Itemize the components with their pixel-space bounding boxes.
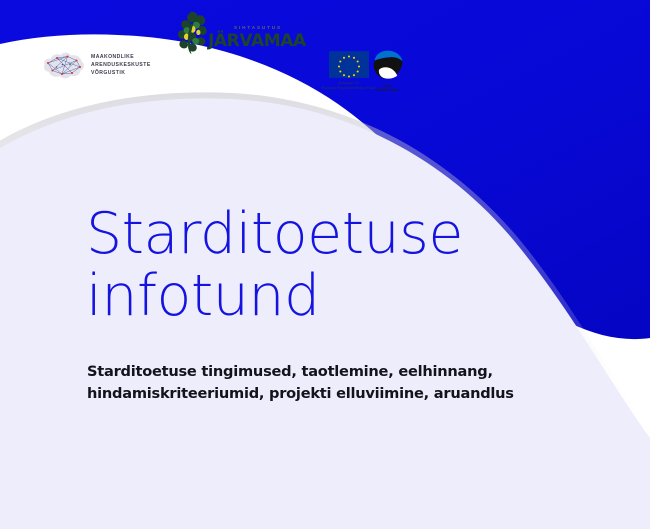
eesti-tuleviku-heaks-logo: Eesti tuleviku heaks xyxy=(370,49,404,93)
mak-logo-line-1: MAAKONDLIKE xyxy=(91,53,151,61)
presentation-slide: MAAKONDLIKE ARENDUSKESKUSTE VÕRGUSTIK xyxy=(0,0,650,529)
european-union-logo: Euroopa Liit Euroopa Regionaalarengu Fon… xyxy=(322,51,375,91)
estonia-flag-shape-icon xyxy=(370,49,404,82)
network-map-icon xyxy=(40,48,86,82)
eu-caption-line-2: Euroopa Regionaalarengu Fond xyxy=(322,86,375,91)
eu-logo-caption: Euroopa Liit Euroopa Regionaalarengu Fon… xyxy=(322,81,375,92)
eu-flag-icon xyxy=(329,51,369,78)
jarvamaa-logo-wordmark: JÄRVAMAA xyxy=(208,31,306,51)
jarvamaa-logo-sihtasutus: SIHTASUTUS xyxy=(234,25,306,30)
maakondlike-arenduskeskuste-vorgustik-logo: MAAKONDLIKE ARENDUSKESKUSTE VÕRGUSTIK xyxy=(40,48,151,82)
mak-logo-text: MAAKONDLIKE ARENDUSKESKUSTE VÕRGUSTIK xyxy=(91,53,151,78)
page-subtitle: Starditoetuse tingimused, taotlemine, ee… xyxy=(87,361,557,405)
partner-logo-strip: MAAKONDLIKE ARENDUSKESKUSTE VÕRGUSTIK xyxy=(0,0,650,100)
estonia-caption-line-2: tuleviku heaks xyxy=(376,88,399,93)
page-title: Starditoetuse infotund xyxy=(86,203,566,327)
sihtasutus-jarvamaa-logo: SIHTASUTUS JÄRVAMAA xyxy=(172,10,306,56)
jarvamaa-logo-text: SIHTASUTUS JÄRVAMAA xyxy=(208,25,306,51)
estonia-logo-caption: Eesti tuleviku heaks xyxy=(376,84,399,94)
mak-logo-line-2: ARENDUSKESKUSTE xyxy=(91,61,151,69)
mak-logo-line-3: VÕRGUSTIK xyxy=(91,69,151,77)
